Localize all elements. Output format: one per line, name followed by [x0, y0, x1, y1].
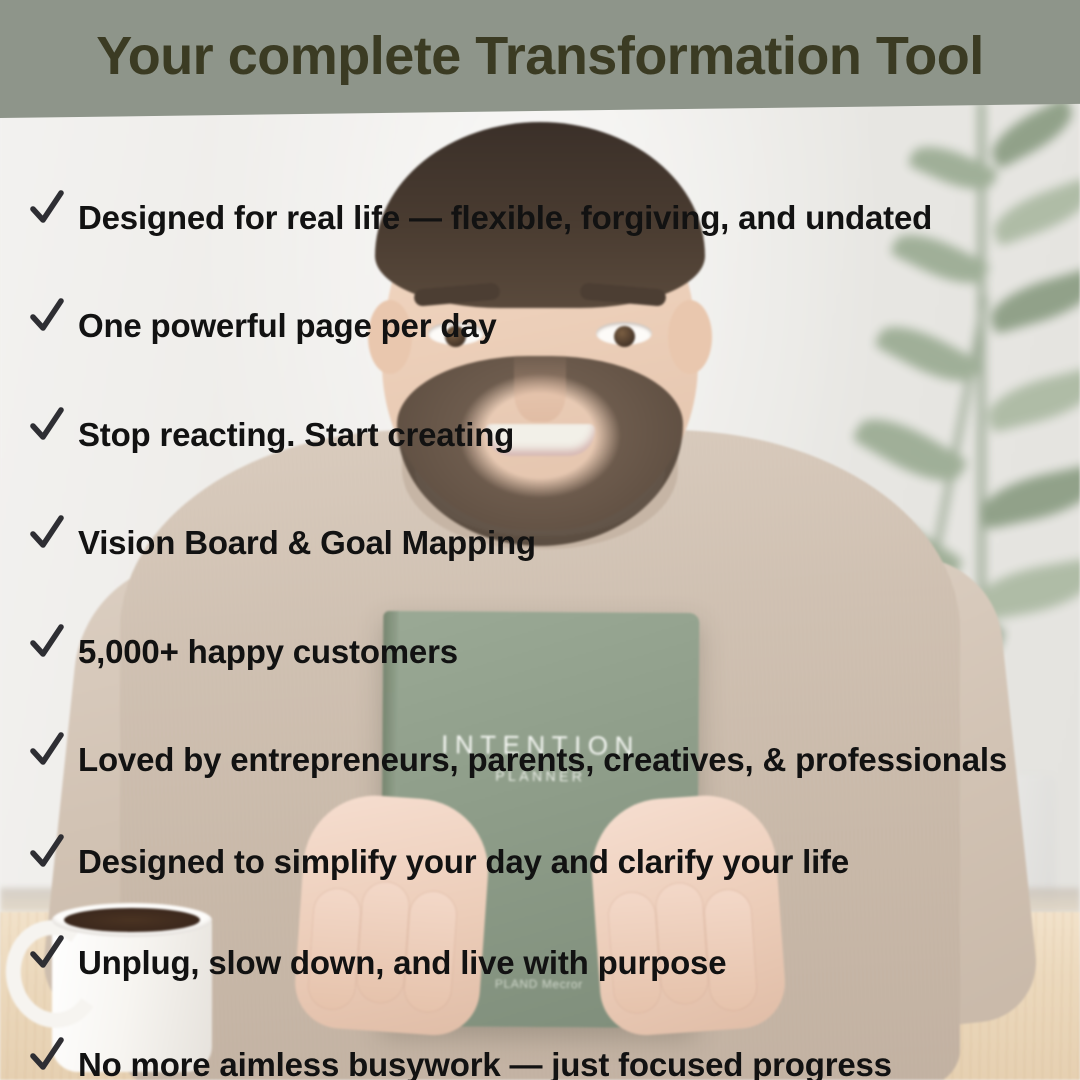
benefit-text: Vision Board & Goal Mapping: [78, 515, 536, 570]
promo-graphic: INTENTION PLANNER PLAND Mecror Your comp…: [0, 0, 1080, 1080]
check-icon: [30, 188, 64, 228]
check-icon: [30, 933, 64, 973]
benefit-text: Stop reacting. Start creating: [78, 407, 514, 462]
list-item: Stop reacting. Start creating: [30, 407, 1054, 462]
benefit-text: 5,000+ happy customers: [78, 624, 458, 679]
check-icon: [30, 622, 64, 662]
benefits-list: Designed for real life — flexible, forgi…: [0, 118, 1080, 1080]
check-icon: [30, 730, 64, 770]
benefit-text: Unplug, slow down, and live with purpose: [78, 935, 726, 990]
benefit-text: One powerful page per day: [78, 298, 497, 353]
check-icon: [30, 405, 64, 445]
check-icon: [30, 832, 64, 872]
list-item: 5,000+ happy customers: [30, 624, 1054, 679]
check-icon: [30, 296, 64, 336]
list-item: No more aimless busywork — just focused …: [30, 1037, 1054, 1080]
benefit-text: Loved by entrepreneurs, parents, creativ…: [78, 732, 1007, 787]
benefit-text: Designed to simplify your day and clarif…: [78, 834, 849, 889]
list-item: Vision Board & Goal Mapping: [30, 515, 1054, 570]
list-item: One powerful page per day: [30, 298, 1054, 353]
benefit-text: No more aimless busywork — just focused …: [78, 1037, 892, 1080]
benefit-text: Designed for real life — flexible, forgi…: [78, 190, 932, 245]
page-title: Your complete Transformation Tool: [96, 29, 984, 89]
list-item: Designed for real life — flexible, forgi…: [30, 190, 1054, 245]
list-item: Unplug, slow down, and live with purpose: [30, 935, 1054, 990]
list-item: Loved by entrepreneurs, parents, creativ…: [30, 732, 1054, 787]
list-item: Designed to simplify your day and clarif…: [30, 834, 1054, 889]
check-icon: [30, 1035, 64, 1075]
check-icon: [30, 513, 64, 553]
header-banner: Your complete Transformation Tool: [0, 0, 1080, 118]
